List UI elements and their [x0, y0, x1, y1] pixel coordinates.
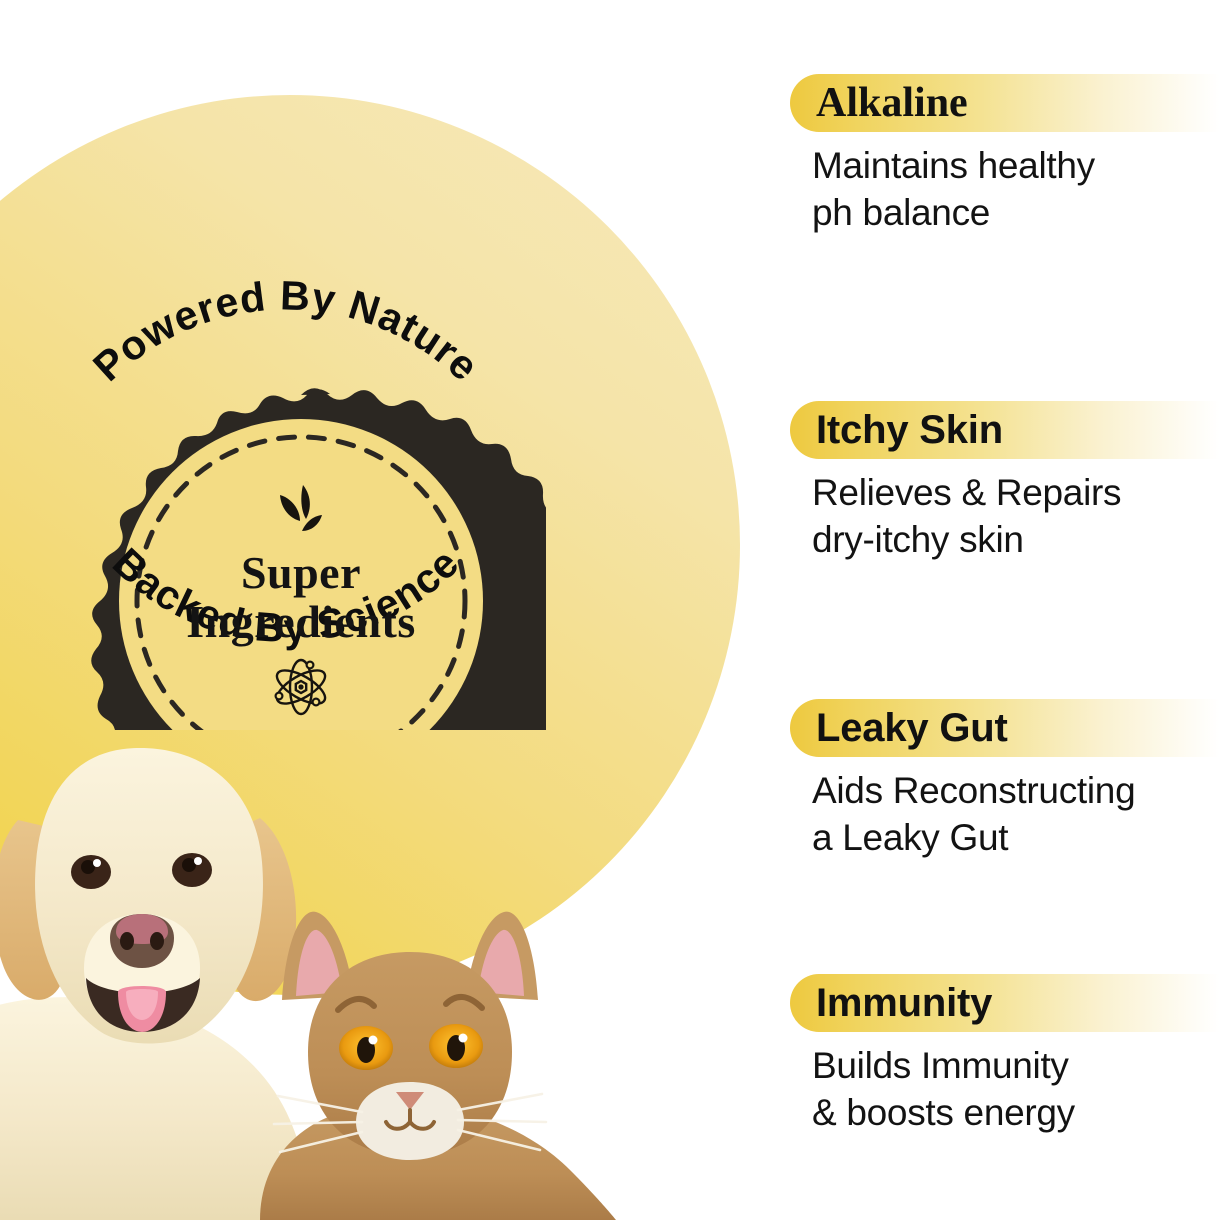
benefit-desc-leaky-gut: Aids Reconstructing a Leaky Gut: [790, 767, 1220, 862]
benefit-title-itchy-skin: Itchy Skin: [790, 410, 1003, 450]
badge-top-arc-text: Powered By Nature: [84, 272, 488, 390]
benefit-card-immunity: Immunity Builds Immunity & boosts energy: [790, 974, 1220, 1137]
benefit-desc-alkaline: Maintains healthy ph balance: [790, 142, 1220, 237]
labrador-dog: [0, 748, 312, 1220]
benefit-pill-alkaline: Alkaline: [790, 74, 1220, 132]
benefit-card-leaky-gut: Leaky Gut Aids Reconstructing a Leaky Gu…: [790, 699, 1220, 862]
benefit-desc-itchy-skin: Relieves & Repairs dry-itchy skin: [790, 469, 1220, 564]
benefit-pill-leaky-gut: Leaky Gut: [790, 699, 1220, 757]
badge-title: Super Ingredients: [186, 549, 416, 647]
benefit-desc-immunity: Builds Immunity & boosts energy: [790, 1042, 1220, 1137]
svg-text:Powered By Nature: Powered By Nature: [84, 272, 488, 390]
benefit-card-itchy-skin: Itchy Skin Relieves & Repairs dry-itchy …: [790, 401, 1220, 564]
leaf-icon: [270, 483, 332, 539]
benefit-pill-immunity: Immunity: [790, 974, 1220, 1032]
benefit-title-leaky-gut: Leaky Gut: [790, 708, 1008, 748]
benefit-card-alkaline: Alkaline Maintains healthy ph balance: [790, 74, 1220, 237]
benefit-pill-itchy-skin: Itchy Skin: [790, 401, 1220, 459]
pets-photo: [0, 700, 700, 1220]
poster-canvas: Powered By Nature Backed By Science Supe…: [0, 0, 1220, 1220]
benefits-list: Alkaline Maintains healthy ph balance It…: [790, 0, 1220, 1220]
benefit-title-immunity: Immunity: [790, 983, 992, 1023]
super-ingredients-badge: Powered By Nature Backed By Science Supe…: [26, 170, 546, 730]
benefit-title-alkaline: Alkaline: [790, 82, 968, 124]
abyssinian-cat: [260, 912, 616, 1220]
